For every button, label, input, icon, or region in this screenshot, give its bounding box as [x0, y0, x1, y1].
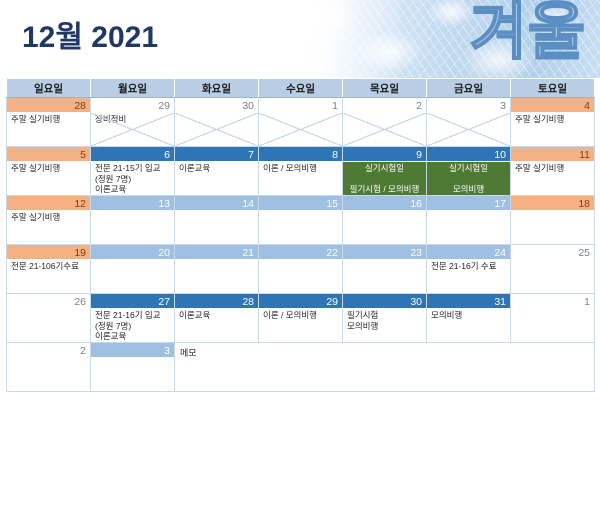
season-word: 겨울 [470, 0, 586, 72]
day-number: 1 [259, 98, 342, 112]
event-text: 실기시험일 [449, 162, 488, 174]
event-text: 주말 실기비행 [515, 163, 591, 174]
day-cell-1[interactable]: 1 [511, 294, 595, 343]
event-list: 이론교육 [175, 161, 258, 174]
event-text: 모의비행 [431, 310, 507, 321]
event-list: 주말 실기비행 [511, 161, 594, 174]
day-cell-24[interactable]: 24전문 21-16기 수료 [427, 245, 511, 294]
event-list: 장비정비 [91, 112, 174, 125]
day-cell-28[interactable]: 28주말 실기비행 [7, 98, 91, 147]
page-title: 12월 2021 [22, 12, 158, 56]
day-cell-7[interactable]: 7이론교육 [175, 147, 259, 196]
event-text: 주말 실기비행 [515, 114, 591, 125]
day-cell-4[interactable]: 4주말 실기비행 [511, 98, 595, 147]
event-text: 모의비행 [453, 183, 484, 195]
day-number: 25 [511, 245, 594, 259]
event-list: 전문 21-16기 수료 [427, 259, 510, 272]
exam-day-block: 실기시험일모의비행 [427, 162, 510, 195]
week-row: 19전문 21-106기수료2021222324전문 21-16기 수료25 [7, 245, 595, 294]
day-cell-2[interactable]: 2 [343, 98, 427, 147]
week-row: 2627전문 21-16기 입교(정원 7명)이론교육28이론교육29이론 / … [7, 294, 595, 343]
day-number: 19 [7, 245, 90, 259]
day-cell-30[interactable]: 30 [175, 98, 259, 147]
event-text: 전문 21-15기 입교 [95, 163, 171, 174]
day-number: 7 [175, 147, 258, 161]
day-number: 12 [7, 196, 90, 210]
event-list: 필기시험모의비행 [343, 308, 426, 331]
day-cell-3[interactable]: 3 [427, 98, 511, 147]
day-number: 16 [343, 196, 426, 210]
calendar-banner: 겨울 12월 2021 [0, 0, 600, 78]
event-text: 주말 실기비행 [11, 114, 87, 125]
day-cell-25[interactable]: 25 [511, 245, 595, 294]
day-number: 22 [259, 245, 342, 259]
event-list: 이론교육 [175, 308, 258, 321]
day-cell-15[interactable]: 15 [259, 196, 343, 245]
day-number: 9 [343, 147, 426, 161]
day-cell-31[interactable]: 31모의비행 [427, 294, 511, 343]
event-text: 전문 21-16기 수료 [431, 261, 507, 272]
month-calendar: 일요일월요일화요일수요일목요일금요일토요일 28주말 실기비행29장비정비301… [6, 78, 595, 392]
day-number: 11 [511, 147, 594, 161]
day-number: 2 [7, 343, 90, 357]
day-cell-3[interactable]: 3 [91, 343, 175, 392]
event-text: 이론교육 [95, 331, 171, 342]
event-text: 전문 21-16기 입교 [95, 310, 171, 321]
day-number: 15 [259, 196, 342, 210]
event-text: 필기시험 [347, 310, 423, 321]
day-cell-6[interactable]: 6전문 21-15기 입교(정원 7명)이론교육 [91, 147, 175, 196]
day-cell-27[interactable]: 27전문 21-16기 입교(정원 7명)이론교육 [91, 294, 175, 343]
event-text: 이론 / 모의비행 [263, 310, 339, 321]
event-text: 이론 / 모의비행 [263, 163, 339, 174]
day-cell-18[interactable]: 18 [511, 196, 595, 245]
event-text: 필기시험 / 모의비행 [350, 183, 420, 195]
weekday-header-6: 토요일 [511, 79, 595, 98]
event-list: 모의비행 [427, 308, 510, 321]
day-cell-8[interactable]: 8이론 / 모의비행 [259, 147, 343, 196]
day-cell-23[interactable]: 23 [343, 245, 427, 294]
weekday-header-1: 월요일 [91, 79, 175, 98]
day-number: 4 [511, 98, 594, 112]
day-cell-22[interactable]: 22 [259, 245, 343, 294]
day-cell-10[interactable]: 10실기시험일모의비행 [427, 147, 511, 196]
day-number: 2 [343, 98, 426, 112]
day-cell-19[interactable]: 19전문 21-106기수료 [7, 245, 91, 294]
memo-cell[interactable]: 메모 [175, 343, 595, 392]
exam-day-block: 실기시험일필기시험 / 모의비행 [343, 162, 426, 195]
event-text: 주말 실기비행 [11, 163, 87, 174]
day-number: 27 [91, 294, 174, 308]
event-text: 전문 21-106기수료 [11, 261, 87, 272]
day-number: 31 [427, 294, 510, 308]
event-text: 모의비행 [347, 321, 423, 332]
event-list: 주말 실기비행 [7, 210, 90, 223]
day-cell-21[interactable]: 21 [175, 245, 259, 294]
day-cell-28[interactable]: 28이론교육 [175, 294, 259, 343]
day-number: 21 [175, 245, 258, 259]
day-number: 29 [91, 98, 174, 112]
event-list: 전문 21-16기 입교(정원 7명)이론교육 [91, 308, 174, 342]
event-list: 주말 실기비행 [7, 112, 90, 125]
week-row: 28주말 실기비행29장비정비301234주말 실기비행 [7, 98, 595, 147]
week-row: 12주말 실기비행131415161718 [7, 196, 595, 245]
event-list: 전문 21-106기수료 [7, 259, 90, 272]
day-cell-29[interactable]: 29장비정비 [91, 98, 175, 147]
event-text: 실기시험일 [365, 162, 404, 174]
week-row: 23메모 [7, 343, 595, 392]
day-number: 5 [7, 147, 90, 161]
day-number: 30 [175, 98, 258, 112]
day-number: 14 [175, 196, 258, 210]
weekday-header-0: 일요일 [7, 79, 91, 98]
day-number: 8 [259, 147, 342, 161]
event-text: 이론교육 [179, 163, 255, 174]
event-text: 장비정비 [95, 114, 171, 125]
day-cell-13[interactable]: 13 [91, 196, 175, 245]
day-cell-12[interactable]: 12주말 실기비행 [7, 196, 91, 245]
event-text: (정원 7명) [95, 174, 171, 185]
day-number: 20 [91, 245, 174, 259]
day-cell-16[interactable]: 16 [343, 196, 427, 245]
day-number: 28 [7, 98, 90, 112]
weekday-header-5: 금요일 [427, 79, 511, 98]
event-text: 이론교육 [95, 184, 171, 195]
day-cell-29[interactable]: 29이론 / 모의비행 [259, 294, 343, 343]
day-number: 1 [511, 294, 594, 308]
day-number: 28 [175, 294, 258, 308]
day-number: 18 [511, 196, 594, 210]
weekday-header-row: 일요일월요일화요일수요일목요일금요일토요일 [7, 79, 595, 98]
day-cell-30[interactable]: 30필기시험모의비행 [343, 294, 427, 343]
day-number: 17 [427, 196, 510, 210]
day-number: 3 [427, 98, 510, 112]
day-cell-1[interactable]: 1 [259, 98, 343, 147]
day-number: 29 [259, 294, 342, 308]
day-cell-20[interactable]: 20 [91, 245, 175, 294]
day-number: 24 [427, 245, 510, 259]
day-cell-17[interactable]: 17 [427, 196, 511, 245]
event-text: 이론교육 [179, 310, 255, 321]
day-cell-14[interactable]: 14 [175, 196, 259, 245]
day-number: 13 [91, 196, 174, 210]
day-number: 3 [91, 343, 174, 357]
day-number: 23 [343, 245, 426, 259]
day-number: 26 [7, 294, 90, 308]
day-cell-11[interactable]: 11주말 실기비행 [511, 147, 595, 196]
event-text: 주말 실기비행 [11, 212, 87, 223]
event-list: 주말 실기비행 [7, 161, 90, 174]
day-cell-5[interactable]: 5주말 실기비행 [7, 147, 91, 196]
weekday-header-4: 목요일 [343, 79, 427, 98]
day-number: 10 [427, 147, 510, 161]
day-cell-9[interactable]: 9실기시험일필기시험 / 모의비행 [343, 147, 427, 196]
week-row: 5주말 실기비행6전문 21-15기 입교(정원 7명)이론교육7이론교육8이론… [7, 147, 595, 196]
event-list: 주말 실기비행 [511, 112, 594, 125]
event-text: (정원 7명) [95, 321, 171, 332]
event-list: 전문 21-15기 입교(정원 7명)이론교육 [91, 161, 174, 195]
day-cell-26[interactable]: 26 [7, 294, 91, 343]
event-list: 이론 / 모의비행 [259, 161, 342, 174]
event-list: 이론 / 모의비행 [259, 308, 342, 321]
weekday-header-3: 수요일 [259, 79, 343, 98]
day-number: 30 [343, 294, 426, 308]
weekday-header-2: 화요일 [175, 79, 259, 98]
day-cell-2[interactable]: 2 [7, 343, 91, 392]
day-number: 6 [91, 147, 174, 161]
